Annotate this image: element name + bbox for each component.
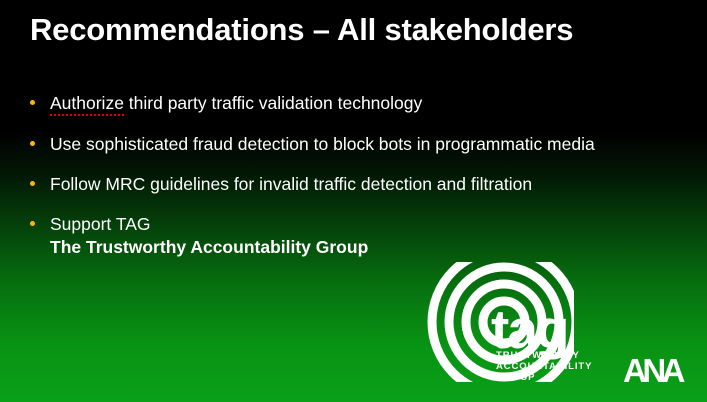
tag-logo: tag Trustworthy Accountability Group — [424, 262, 589, 402]
tag-wordmark: tag — [491, 302, 568, 357]
list-item: Follow MRC guidelines for invalid traffi… — [26, 173, 646, 196]
tag-tagline-line-3: Group — [496, 372, 592, 383]
list-item: Support TAG The Trustworthy Accountabili… — [26, 213, 646, 259]
list-item-subline: The Trustworthy Accountability Group — [50, 236, 646, 259]
list-item-label: Use sophisticated fraud detection to blo… — [50, 134, 595, 154]
misspelled-word: Authorize — [50, 92, 124, 116]
tag-tagline: Trustworthy Accountability Group — [496, 350, 592, 383]
bullet-dot-icon — [30, 181, 35, 186]
bullet-dot-icon — [30, 221, 35, 226]
presentation-slide: Recommendations – All stakeholders Autho… — [0, 0, 707, 402]
ana-logo-text: ANA — [623, 354, 695, 388]
bullet-dot-icon — [30, 100, 35, 105]
list-item-label: third party traffic validation technolog… — [124, 93, 422, 113]
list-item-label: Support TAG — [50, 214, 151, 234]
list-item-label: Follow MRC guidelines for invalid traffi… — [50, 174, 532, 194]
recommendations-list: Authorize third party traffic validation… — [26, 92, 646, 276]
list-item: Use sophisticated fraud detection to blo… — [26, 133, 646, 156]
tag-tagline-line-2: Accountability — [496, 361, 592, 372]
list-item: Authorize third party traffic validation… — [26, 92, 646, 116]
bullet-dot-icon — [30, 141, 35, 146]
tag-tagline-line-1: Trustworthy — [496, 350, 592, 361]
page-title: Recommendations – All stakeholders — [30, 12, 573, 48]
ana-logo: ANA — [623, 354, 695, 388]
